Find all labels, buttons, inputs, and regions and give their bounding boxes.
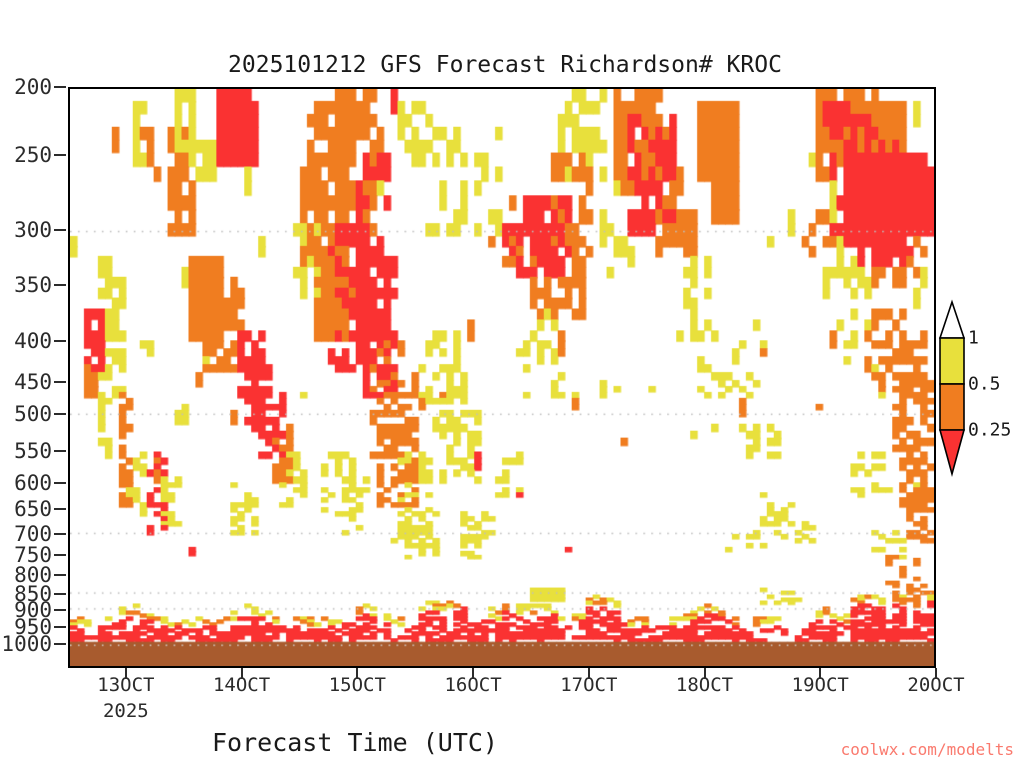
chart-page: 2025101212 GFS Forecast Richardson# KROC…: [0, 0, 1024, 768]
y-tick-label-200: 200: [14, 75, 52, 99]
y-tick-950: [54, 626, 66, 628]
y-tick-label-450: 450: [14, 370, 52, 394]
x-tick-17OCT: [588, 668, 590, 679]
x-tick-15OCT: [356, 668, 358, 679]
y-tick-label-300: 300: [14, 218, 52, 242]
y-tick-750: [54, 554, 66, 556]
y-tick-500: [54, 413, 66, 415]
x-tick-18OCT: [704, 668, 706, 679]
colorbar-tick-0_5: 0.5: [968, 374, 1001, 395]
y-tick-200: [54, 86, 66, 88]
y-tick-350: [54, 284, 66, 286]
x-tick-13OCT: [125, 668, 127, 679]
chart-title: 2025101212 GFS Forecast Richardson# KROC: [0, 52, 1010, 78]
y-tick-650: [54, 508, 66, 510]
y-tick-label-700: 700: [14, 522, 52, 546]
y-axis: 2002503003504004505005506006507007508008…: [0, 0, 68, 768]
y-tick-300: [54, 229, 66, 231]
y-tick-700: [54, 533, 66, 535]
colorbar-band-orange: [940, 384, 964, 430]
y-tick-label-250: 250: [14, 143, 52, 167]
y-tick-1000: [54, 643, 66, 645]
y-tick-850: [54, 593, 66, 595]
colorbar-band-yellow: [940, 338, 964, 384]
x-tick-20OCT: [935, 668, 937, 679]
y-tick-label-500: 500: [14, 402, 52, 426]
colorbar-legend: 1 0.5 0.25: [938, 298, 1024, 478]
y-tick-450: [54, 381, 66, 383]
y-tick-250: [54, 154, 66, 156]
y-tick-label-350: 350: [14, 273, 52, 297]
y-tick-900: [54, 609, 66, 611]
y-tick-800: [54, 574, 66, 576]
y-tick-550: [54, 450, 66, 452]
y-tick-label-400: 400: [14, 329, 52, 353]
y-tick-400: [54, 340, 66, 342]
watermark: coolwx.com/modelts: [841, 740, 1014, 759]
plot-area: [68, 87, 936, 668]
x-tick-16OCT: [472, 668, 474, 679]
y-tick-label-550: 550: [14, 439, 52, 463]
colorbar-tick-0_25: 0.25: [968, 420, 1011, 441]
y-tick-label-650: 650: [14, 497, 52, 521]
colorbar-tick-1: 1: [968, 328, 979, 349]
y-tick-label-600: 600: [14, 471, 52, 495]
colorbar-band-above-1: [940, 302, 964, 338]
y-tick-label-1000: 1000: [1, 632, 52, 656]
colorbar-band-red: [940, 430, 964, 474]
x-axis-year-label: 2025: [103, 700, 149, 722]
x-tick-19OCT: [819, 668, 821, 679]
y-tick-600: [54, 482, 66, 484]
x-axis-title: Forecast Time (UTC): [0, 728, 710, 757]
x-tick-14OCT: [241, 668, 243, 679]
heatmap-canvas: [70, 89, 934, 666]
